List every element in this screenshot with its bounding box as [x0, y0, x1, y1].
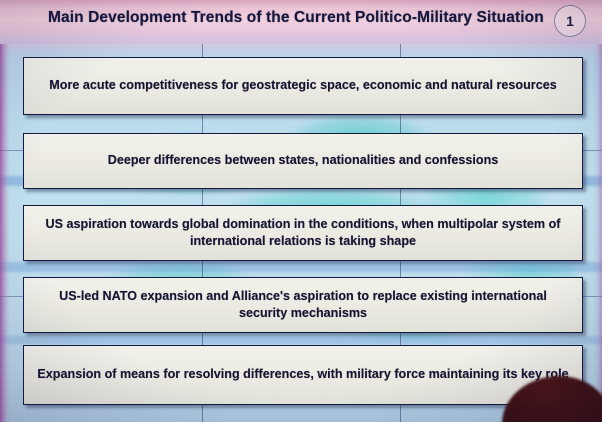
bullet-box-2: Deeper differences between states, natio… [23, 133, 583, 189]
bullet-text-1: More acute competitiveness for geostrate… [49, 77, 556, 94]
slide-title: Main Development Trends of the Current P… [48, 9, 540, 27]
projected-slide-photo: Main Development Trends of the Current P… [0, 0, 602, 422]
bullet-text-3: US aspiration towards global domination … [34, 216, 572, 251]
slide-content-area: More acute competitiveness for geostrate… [0, 44, 602, 422]
slide-title-band: Main Development Trends of the Current P… [0, 0, 602, 44]
slide-number-badge: 1 [554, 5, 586, 37]
bullet-box-5: Expansion of means for resolving differe… [23, 345, 583, 405]
bullet-text-5: Expansion of means for resolving differe… [37, 366, 568, 383]
bullet-box-1: More acute competitiveness for geostrate… [23, 57, 583, 115]
bullet-text-2: Deeper differences between states, natio… [108, 152, 499, 169]
bullet-text-4: US-led NATO expansion and Alliance's asp… [34, 288, 572, 323]
bullet-box-4: US-led NATO expansion and Alliance's asp… [23, 277, 583, 333]
bullet-box-3: US aspiration towards global domination … [23, 205, 583, 261]
